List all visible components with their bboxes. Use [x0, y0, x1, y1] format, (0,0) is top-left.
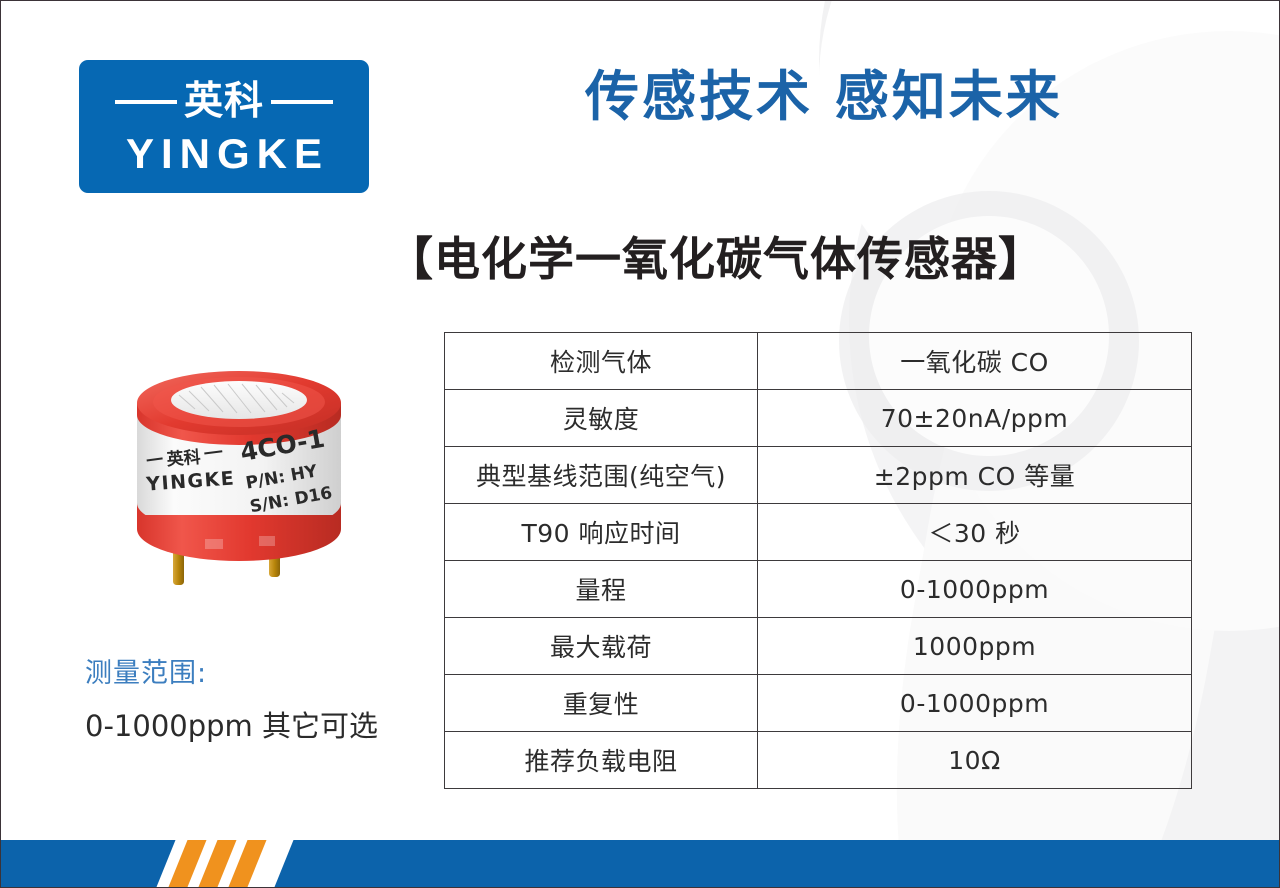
spec-value: 0-1000ppm — [758, 675, 1192, 732]
svg-text:英科: 英科 — [166, 447, 201, 470]
page-header: 英科 YINGKE 传感技术 感知未来 — [1, 1, 1279, 211]
logo-english-name: YINGKE — [119, 133, 329, 175]
company-tagline: 传感技术 感知未来 — [585, 63, 1063, 131]
logo-rule-right-icon — [271, 100, 333, 104]
footer-stripes-icon — [157, 840, 294, 887]
table-row: 量程 0-1000ppm — [445, 561, 1192, 618]
measurement-range-block: 测量范围: 0-1000ppm 其它可选 — [85, 659, 378, 743]
table-row: 推荐负载电阻 10Ω — [445, 732, 1192, 789]
spec-value: 1000ppm — [758, 618, 1192, 675]
logo-chinese-name: 英科 — [184, 82, 264, 121]
table-row: 灵敏度 70±20nA/ppm — [445, 390, 1192, 447]
spec-value: 一氧化碳 CO — [758, 333, 1192, 390]
spec-param: T90 响应时间 — [445, 504, 758, 561]
spec-param: 典型基线范围(纯空气) — [445, 447, 758, 504]
spec-value: ±2ppm CO 等量 — [758, 447, 1192, 504]
measurement-range-value: 0-1000ppm 其它可选 — [85, 711, 378, 743]
spec-value: 0-1000ppm — [758, 561, 1192, 618]
product-spec-page: 英科 YINGKE 传感技术 感知未来 【电化学一氧化碳气体传感器】 — [0, 0, 1280, 888]
specification-table-body: 检测气体 一氧化碳 CO 灵敏度 70±20nA/ppm 典型基线范围(纯空气)… — [445, 333, 1192, 789]
company-logo: 英科 YINGKE — [79, 60, 369, 193]
spec-param: 最大载荷 — [445, 618, 758, 675]
spec-param: 检测气体 — [445, 333, 758, 390]
spec-param: 灵敏度 — [445, 390, 758, 447]
logo-rule-left-icon — [115, 100, 177, 104]
spec-param: 量程 — [445, 561, 758, 618]
footer-bar — [1, 840, 1279, 887]
spec-value: 10Ω — [758, 732, 1192, 789]
specification-table: 检测气体 一氧化碳 CO 灵敏度 70±20nA/ppm 典型基线范围(纯空气)… — [444, 332, 1192, 789]
spec-param: 重复性 — [445, 675, 758, 732]
sensor-illustration-icon: 英科 YINGKE 4CO-1 P/N: HY S/N: D16 — [119, 353, 359, 603]
measurement-range-label: 测量范围: — [85, 659, 378, 689]
table-row: 重复性 0-1000ppm — [445, 675, 1192, 732]
spec-param: 推荐负载电阻 — [445, 732, 758, 789]
logo-top-row: 英科 — [79, 82, 369, 121]
table-row: 检测气体 一氧化碳 CO — [445, 333, 1192, 390]
table-row: 典型基线范围(纯空气) ±2ppm CO 等量 — [445, 447, 1192, 504]
table-row: 最大载荷 1000ppm — [445, 618, 1192, 675]
spec-value: ＜30 秒 — [758, 504, 1192, 561]
spec-value: 70±20nA/ppm — [758, 390, 1192, 447]
sensor-product-photo: 英科 YINGKE 4CO-1 P/N: HY S/N: D16 — [119, 353, 359, 603]
table-row: T90 响应时间 ＜30 秒 — [445, 504, 1192, 561]
page-title: 【电化学一氧化碳气体传感器】 — [1, 223, 1280, 289]
